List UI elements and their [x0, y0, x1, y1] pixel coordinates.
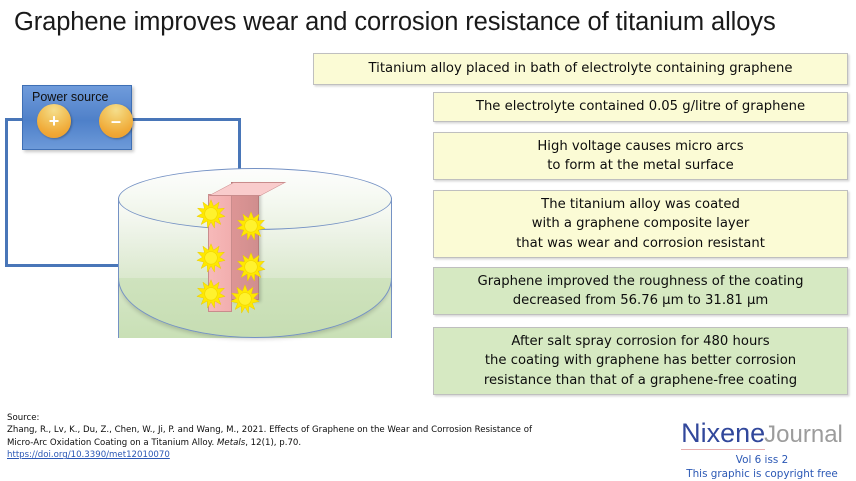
citation-suffix: , 12(1), p.70.: [245, 438, 301, 448]
citation-journal-name: Metals: [217, 438, 245, 448]
callout-text: The titanium alloy was coatedwith a grap…: [434, 195, 847, 254]
source-doi-link[interactable]: https://doi.org/10.3390/met12010070: [7, 450, 170, 460]
micro-arc-spark-icon: [196, 243, 226, 273]
callout-text: Graphene improved the roughness of the c…: [434, 272, 847, 311]
slide-canvas: Graphene improves wear and corrosion res…: [0, 0, 856, 481]
callout-bath: Titanium alloy placed in bath of electro…: [313, 53, 848, 85]
micro-arc-spark-icon: [236, 211, 266, 241]
source-footer: Source: Zhang, R., Lv, K., Du, Z., Chen,…: [7, 412, 547, 462]
positive-terminal-icon: +: [37, 104, 71, 138]
nixene-journal-logo: NixeneJournal Vol 6 iss 2 This graphic i…: [672, 418, 852, 481]
wire-segment-left-bottom: [5, 264, 130, 267]
source-citation-line1: Zhang, R., Lv, K., Du, Z., Chen, W., Ji,…: [7, 424, 547, 436]
callout-salt-spray: After salt spray corrosion for 480 hours…: [433, 327, 848, 395]
negative-terminal-icon: –: [99, 104, 133, 138]
micro-arc-spark-icon: [196, 199, 226, 229]
micro-arc-spark-icon: [230, 284, 260, 314]
logo-brand-primary: Nixene: [681, 418, 765, 450]
wire-segment-right-top: [124, 118, 241, 121]
callout-concentration: The electrolyte contained 0.05 g/litre o…: [433, 92, 848, 122]
logo-brand-secondary: Journal: [764, 421, 843, 448]
source-heading: Source:: [7, 412, 547, 424]
logo-copyright-label: This graphic is copyright free: [672, 467, 852, 481]
callout-text: The electrolyte contained 0.05 g/litre o…: [434, 97, 847, 117]
power-source-box: Power source + –: [22, 85, 132, 150]
callout-coating: The titanium alloy was coatedwith a grap…: [433, 190, 848, 258]
source-citation-line2: Micro-Arc Oxidation Coating on a Titaniu…: [7, 437, 547, 449]
plate-side-face: [231, 182, 259, 300]
wire-segment-left-down: [5, 118, 8, 267]
logo-volume-label: Vol 6 iss 2: [672, 453, 852, 467]
micro-arc-spark-icon: [236, 252, 266, 282]
callout-text: After salt spray corrosion for 480 hours…: [434, 332, 847, 391]
callout-micro-arcs: High voltage causes micro arcsto form at…: [433, 132, 848, 180]
micro-arc-spark-icon: [196, 279, 226, 309]
callout-roughness: Graphene improved the roughness of the c…: [433, 267, 848, 315]
citation-prefix: Micro-Arc Oxidation Coating on a Titaniu…: [7, 438, 217, 448]
power-source-label: Power source: [32, 90, 108, 104]
logo-wordmark: NixeneJournal: [672, 418, 852, 453]
callout-text: High voltage causes micro arcsto form at…: [434, 137, 847, 176]
callout-text: Titanium alloy placed in bath of electro…: [314, 59, 847, 79]
